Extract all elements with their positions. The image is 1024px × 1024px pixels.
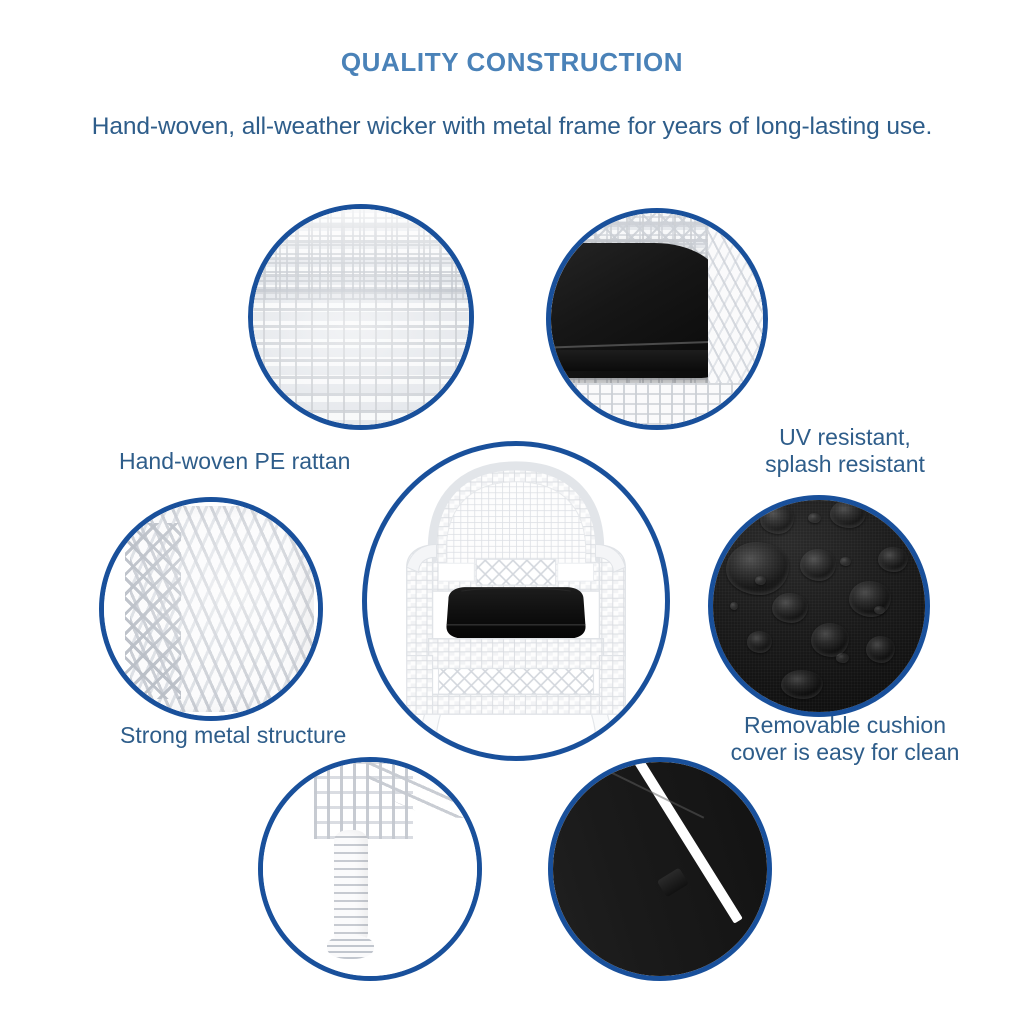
black-cushion-on-white-wicker-image xyxy=(551,213,763,425)
feature-circle-strong-metal-structure xyxy=(99,497,323,721)
black-cushion-zipper-image xyxy=(553,762,767,976)
page-subtitle: Hand-woven, all-weather wicker with meta… xyxy=(0,113,1024,141)
caption-removable-cushion-cover: Removable cushion cover is easy for clea… xyxy=(690,712,1000,766)
white-wicker-chair-image xyxy=(367,446,665,756)
white-wicker-chair-leg-image xyxy=(263,762,477,976)
feature-circle-uv-splash-resistant xyxy=(546,208,768,430)
feature-circle-removable-cushion-cover xyxy=(708,495,930,717)
white-wicker-weave-closeup-image xyxy=(253,209,469,425)
feature-circle-hand-woven-pe-rattan xyxy=(248,204,474,430)
feature-circle-cushion-zipper xyxy=(548,757,772,981)
page-title: QUALITY CONSTRUCTION xyxy=(0,47,1024,78)
infographic-canvas: QUALITY CONSTRUCTION Hand-woven, all-wea… xyxy=(0,0,1024,1024)
caption-uv-splash-resistant: UV resistant, splash resistant xyxy=(700,424,990,478)
caption-hand-woven-pe-rattan: Hand-woven PE rattan xyxy=(119,448,449,475)
white-wicker-armrest-corner-image xyxy=(104,502,318,716)
water-droplets-on-black-fabric-image xyxy=(713,500,925,712)
center-circle-product-chair xyxy=(362,441,670,761)
feature-circle-chair-leg xyxy=(258,757,482,981)
caption-strong-metal-structure: Strong metal structure xyxy=(120,722,460,749)
